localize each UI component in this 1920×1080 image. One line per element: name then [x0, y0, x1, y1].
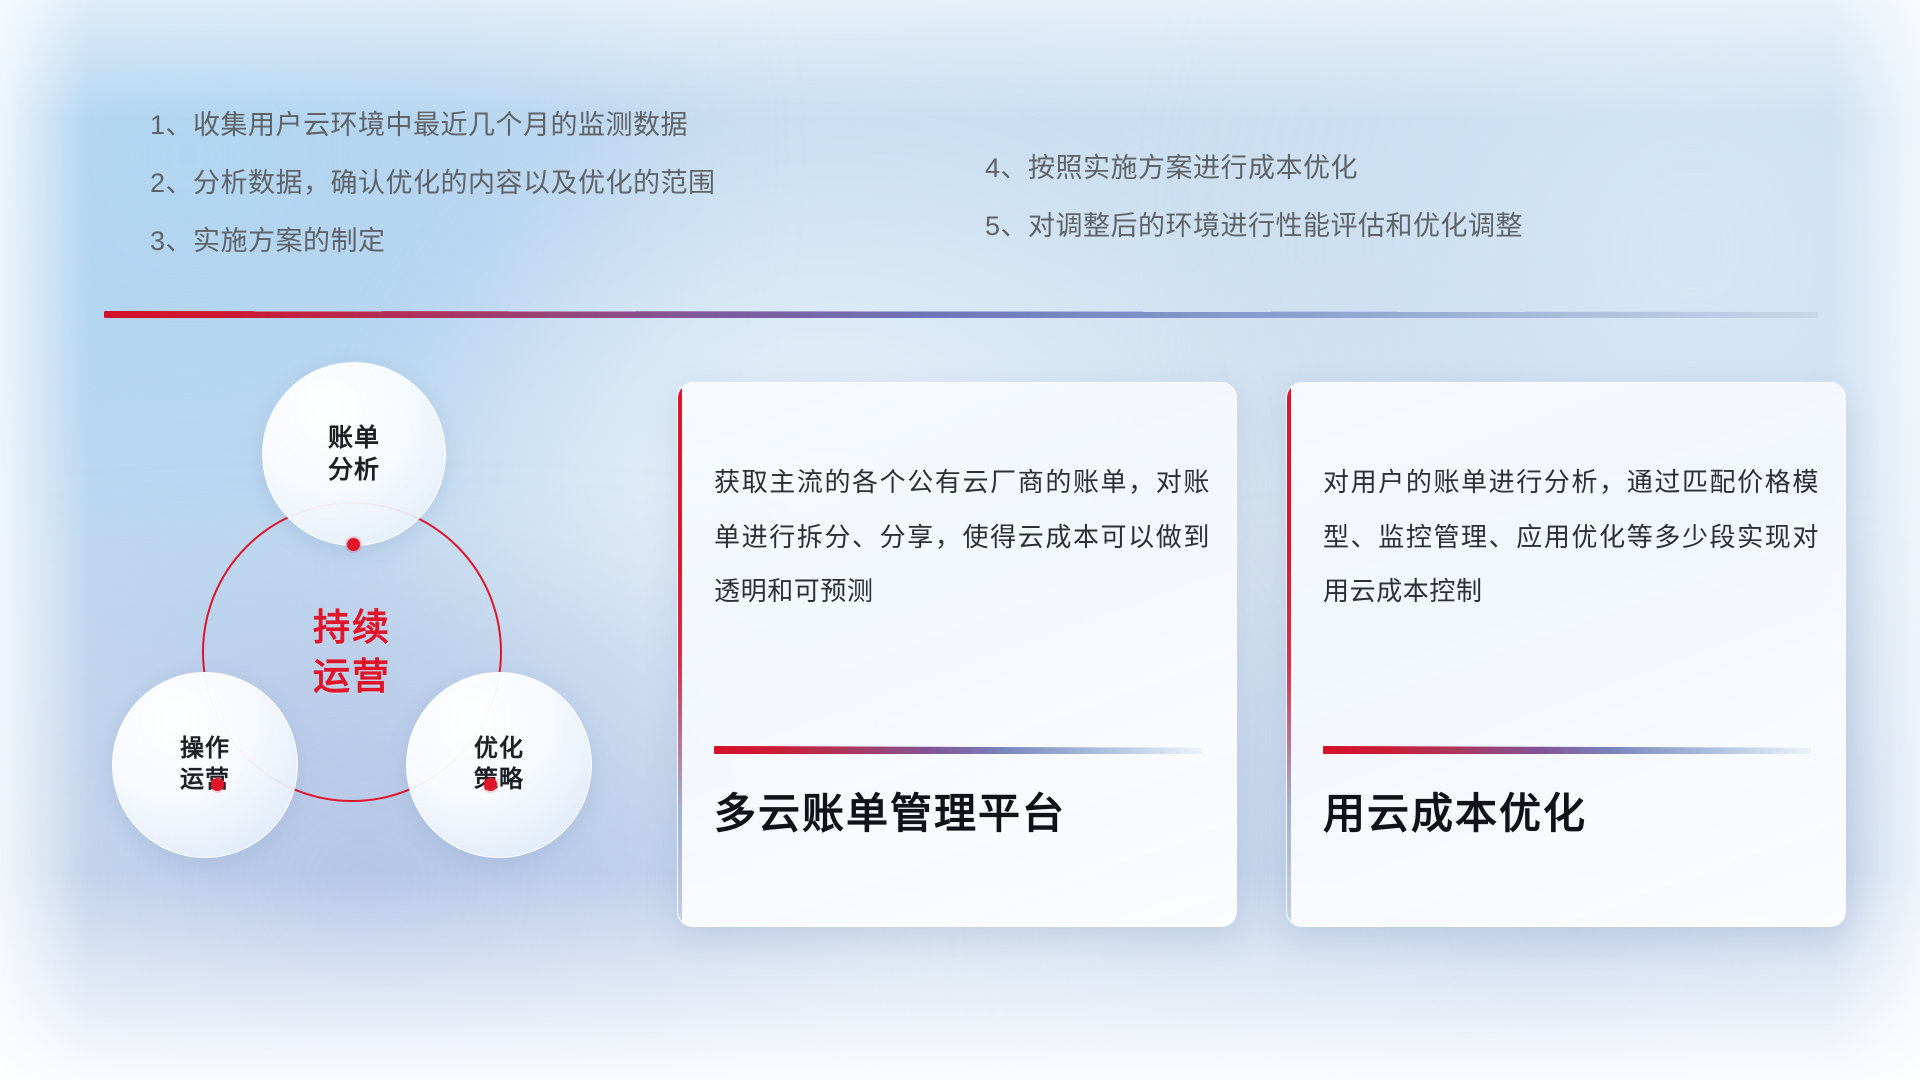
card-divider-bar — [714, 746, 1202, 754]
step-item-4: 4、按照实施方案进行成本优化 — [985, 155, 1745, 182]
steps-column-right: 4、按照实施方案进行成本优化 5、对调整后的环境进行性能评估和优化调整 — [985, 155, 1745, 271]
card-accent-bar — [1287, 383, 1291, 926]
slide-canvas: 1、收集用户云环境中最近几个月的监测数据 2、分析数据，确认优化的内容以及优化的… — [0, 0, 1920, 1080]
diagram-node-dot-top — [347, 538, 360, 551]
card-title: 用云成本优化 — [1323, 788, 1819, 841]
background-top-fade — [0, 0, 1920, 120]
diagram-center-line-1: 持续 — [313, 606, 391, 650]
diagram-node-dot-bottom-left — [211, 778, 224, 791]
feature-card-cost-optimization[interactable]: 对用户的账单进行分析，通过匹配价格模型、监控管理、应用优化等多少段实现对用云成本… — [1286, 382, 1846, 927]
section-divider-bar — [104, 311, 1818, 318]
bubble-label-line-2: 策略 — [474, 765, 524, 796]
diagram-bubble-operations[interactable]: 操作 运营 — [112, 672, 298, 858]
bubble-label-line-2: 分析 — [328, 454, 380, 486]
step-item-5: 5、对调整后的环境进行性能评估和优化调整 — [985, 213, 1745, 240]
bubble-label-line-1: 优化 — [474, 734, 524, 765]
step-item-2: 2、分析数据，确认优化的内容以及优化的范围 — [150, 170, 910, 197]
feature-card-billing-platform[interactable]: 获取主流的各个公有云厂商的账单，对账单进行拆分、分享，使得云成本可以做到透明和可… — [677, 382, 1237, 927]
card-accent-bar — [678, 383, 682, 926]
card-body-text: 对用户的账单进行分析，通过匹配价格模型、监控管理、应用优化等多少段实现对用云成本… — [1323, 455, 1819, 619]
card-body-text: 获取主流的各个公有云厂商的账单，对账单进行拆分、分享，使得云成本可以做到透明和可… — [714, 455, 1210, 619]
section-divider — [104, 311, 1818, 318]
diagram-bubble-optimization-strategy[interactable]: 优化 策略 — [406, 672, 592, 858]
card-divider-bar — [1323, 746, 1811, 754]
steps-column-left: 1、收集用户云环境中最近几个月的监测数据 2、分析数据，确认优化的内容以及优化的… — [150, 112, 910, 286]
diagram-bubble-billing-analysis[interactable]: 账单 分析 — [262, 362, 446, 546]
card-divider — [1323, 746, 1811, 754]
card-divider — [714, 746, 1202, 754]
diagram-node-dot-bottom-right — [484, 778, 497, 791]
step-item-3: 3、实施方案的制定 — [150, 228, 910, 255]
step-item-1: 1、收集用户云环境中最近几个月的监测数据 — [150, 112, 910, 139]
diagram-center-line-2: 运营 — [313, 655, 391, 699]
bubble-label-line-1: 账单 — [328, 422, 380, 454]
venn-diagram: 持续 运营 账单 分析 操作 运营 优化 策略 — [96, 352, 626, 912]
bubble-label-line-1: 操作 — [180, 734, 230, 765]
steps-list: 1、收集用户云环境中最近几个月的监测数据 2、分析数据，确认优化的内容以及优化的… — [0, 112, 1920, 272]
card-title: 多云账单管理平台 — [714, 788, 1210, 841]
